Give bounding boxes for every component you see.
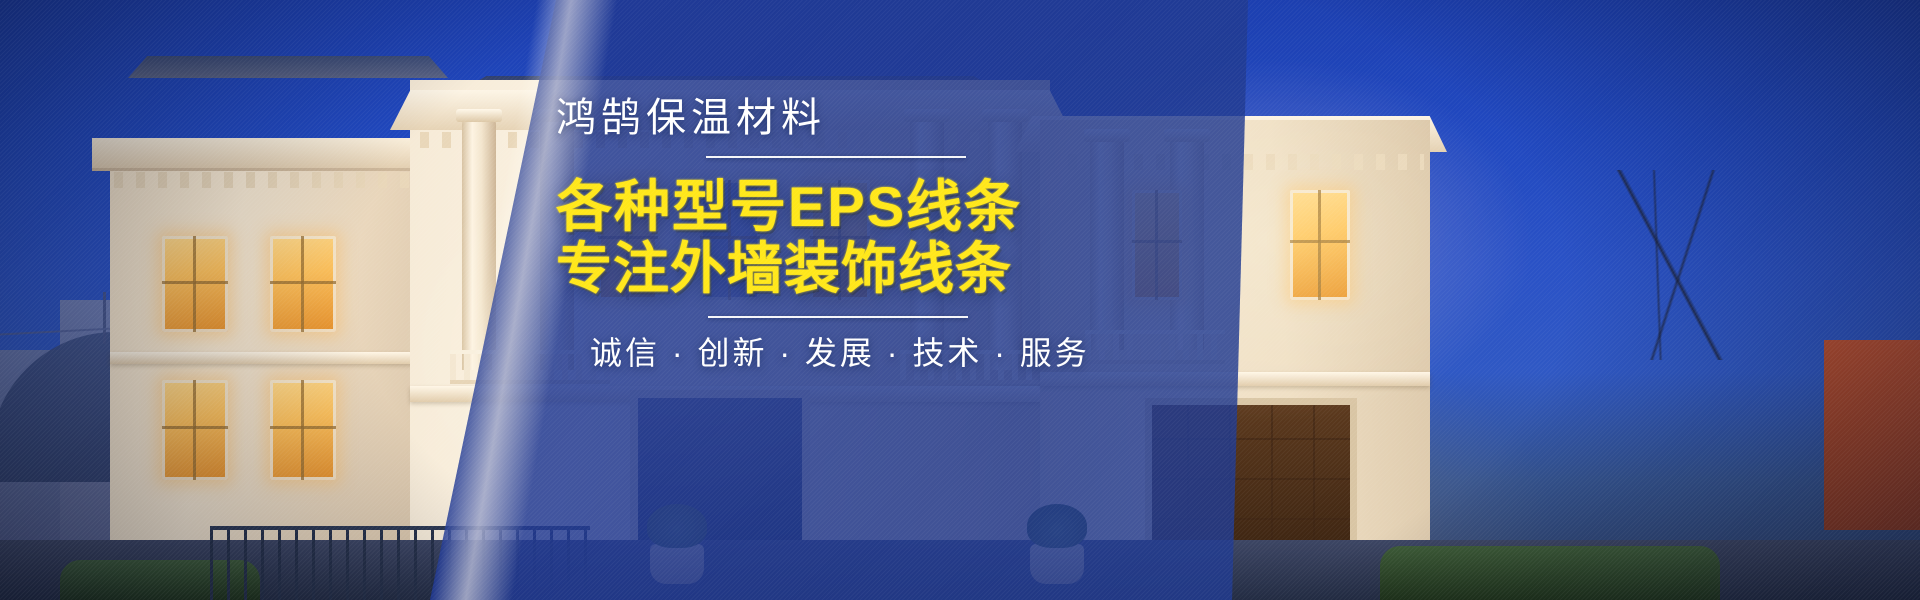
headline-line-2: 专注外墙装饰线条 [556,238,1026,300]
divider-top [706,156,966,158]
tagline: 诚信 · 创新 · 发展 · 技术 · 服务 [556,334,1026,372]
divider-bottom [708,316,968,318]
promo-banner: 鸿鹄保温材料 各种型号EPS线条 专注外墙装饰线条 诚信 · 创新 · 发展 ·… [0,0,1920,600]
headline-line-1: 各种型号EPS线条 [556,176,1026,238]
banner-copy: 鸿鹄保温材料 各种型号EPS线条 专注外墙装饰线条 诚信 · 创新 · 发展 ·… [556,96,1026,372]
headline: 各种型号EPS线条 专注外墙装饰线条 [556,176,1026,300]
brand-name: 鸿鹄保温材料 [556,96,1026,140]
